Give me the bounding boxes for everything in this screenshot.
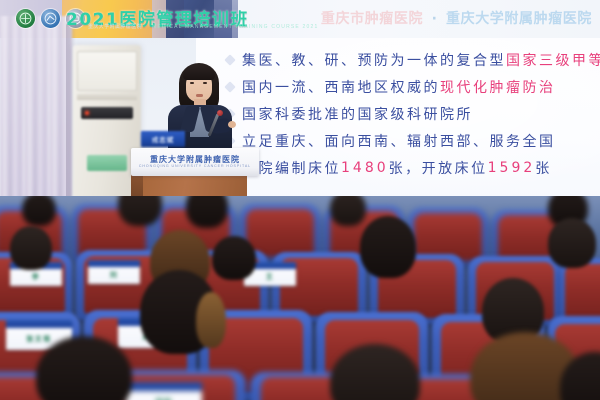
seat-cushion	[565, 264, 600, 321]
slide-line-5-number-1: 1480	[341, 160, 389, 176]
banner-subtitle-cn: 重庆大学附属肿瘤医院	[88, 23, 142, 30]
slide-line-4-text: 立足重庆、面向西南、辐射西部、服务全国	[242, 131, 556, 151]
slide-line-3: 国家科委批准的国家级科研院所	[226, 100, 600, 127]
hospital-name-separator: ·	[432, 11, 438, 27]
banner-subtitle-en: MEDICAL MANAGEMENT TRAINING COURSE 2021	[152, 24, 318, 30]
name-card-header	[6, 320, 72, 328]
audience-head	[330, 196, 366, 226]
banner-hospital-names: 重庆市肿瘤医院 · 重庆大学附属肿瘤医院	[321, 8, 592, 28]
ac-grille	[77, 51, 137, 91]
hospital-emblem-blue-icon	[41, 9, 60, 28]
name-card-header	[88, 260, 140, 267]
speaker-eye-right	[203, 82, 207, 84]
audience-head	[22, 196, 56, 226]
podium-sign-panel: 重庆大学附属肿瘤医院 CHONGQING UNIVERSITY CANCER H…	[131, 148, 259, 176]
ac-control-panel	[81, 107, 133, 119]
slide-line-3-text: 国家科委批准的国家级科研院所	[242, 104, 473, 124]
slide-line-4: 立足重庆、面向西南、辐射西部、服务全国	[226, 127, 600, 154]
speaker-mouth	[196, 94, 203, 97]
slide-line-5-number-2: 1592	[488, 160, 536, 176]
name-card-text: 周娟	[126, 391, 202, 400]
hospital-name-left: 重庆市肿瘤医院	[321, 11, 423, 27]
microphone-head-icon	[217, 110, 223, 116]
audience-head	[548, 218, 596, 268]
ac-vent	[77, 94, 137, 100]
conference-photo-scene: 集医、教、研、预防为一体的复合型 国家三级甲等肿 国内一流、西南地区权威的 现代…	[0, 0, 600, 400]
name-card-text: 李	[10, 269, 62, 286]
slide-line-5-mid: 张，开放床位	[389, 158, 488, 178]
slide-content: 集医、教、研、预防为一体的复合型 国家三级甲等肿 国内一流、西南地区权威的 现代…	[226, 46, 600, 181]
audience-seating: 李 刘 王 张文祖	[0, 196, 600, 400]
speaker-nameplate: 戎志斌	[141, 131, 185, 147]
slide-line-1-highlight: 国家三级甲等肿	[506, 50, 600, 70]
speaker-bangs	[183, 66, 215, 80]
name-card-text: 刘	[88, 267, 140, 284]
slide-line-2-text: 国内一流、西南地区权威的	[242, 77, 440, 97]
audience-head	[212, 236, 256, 280]
hospital-emblem-green-icon	[16, 9, 35, 28]
audience-head	[186, 196, 228, 228]
slide-line-2: 国内一流、西南地区权威的 现代化肿瘤防治	[226, 73, 600, 100]
event-banner: 2021医院管理培训班 重庆大学附属肿瘤医院 MEDICAL MANAGEMEN…	[0, 0, 600, 38]
podium-sign-english: CHONGQING UNIVERSITY CANCER HOSPITAL	[139, 164, 251, 168]
slide-line-1: 集医、教、研、预防为一体的复合型 国家三级甲等肿	[226, 46, 600, 73]
speaker-nameplate-text: 戎志斌	[152, 134, 175, 144]
audience-head	[360, 216, 416, 278]
slide-line-1-text: 集医、教、研、预防为一体的复合型	[242, 50, 506, 70]
ac-brand-logo	[87, 155, 127, 171]
audience-name-card: 刘	[88, 260, 140, 284]
audience-head	[10, 226, 52, 270]
audience-name-card: 周娟	[126, 382, 202, 400]
speaker-eye-left	[190, 82, 194, 84]
speaker-hand	[228, 121, 236, 128]
hospital-name-right: 重庆大学附属肿瘤医院	[446, 11, 592, 27]
slide-line-2-highlight: 现代化肿瘤防治	[440, 77, 556, 97]
ac-power-led-icon	[85, 111, 89, 115]
audience-head	[196, 292, 226, 348]
name-card-header	[126, 382, 202, 391]
slide-line-5: 医院编制床位 1480 张，开放床位 1592 张	[226, 154, 600, 181]
slide-line-5-post: 张	[535, 158, 552, 178]
